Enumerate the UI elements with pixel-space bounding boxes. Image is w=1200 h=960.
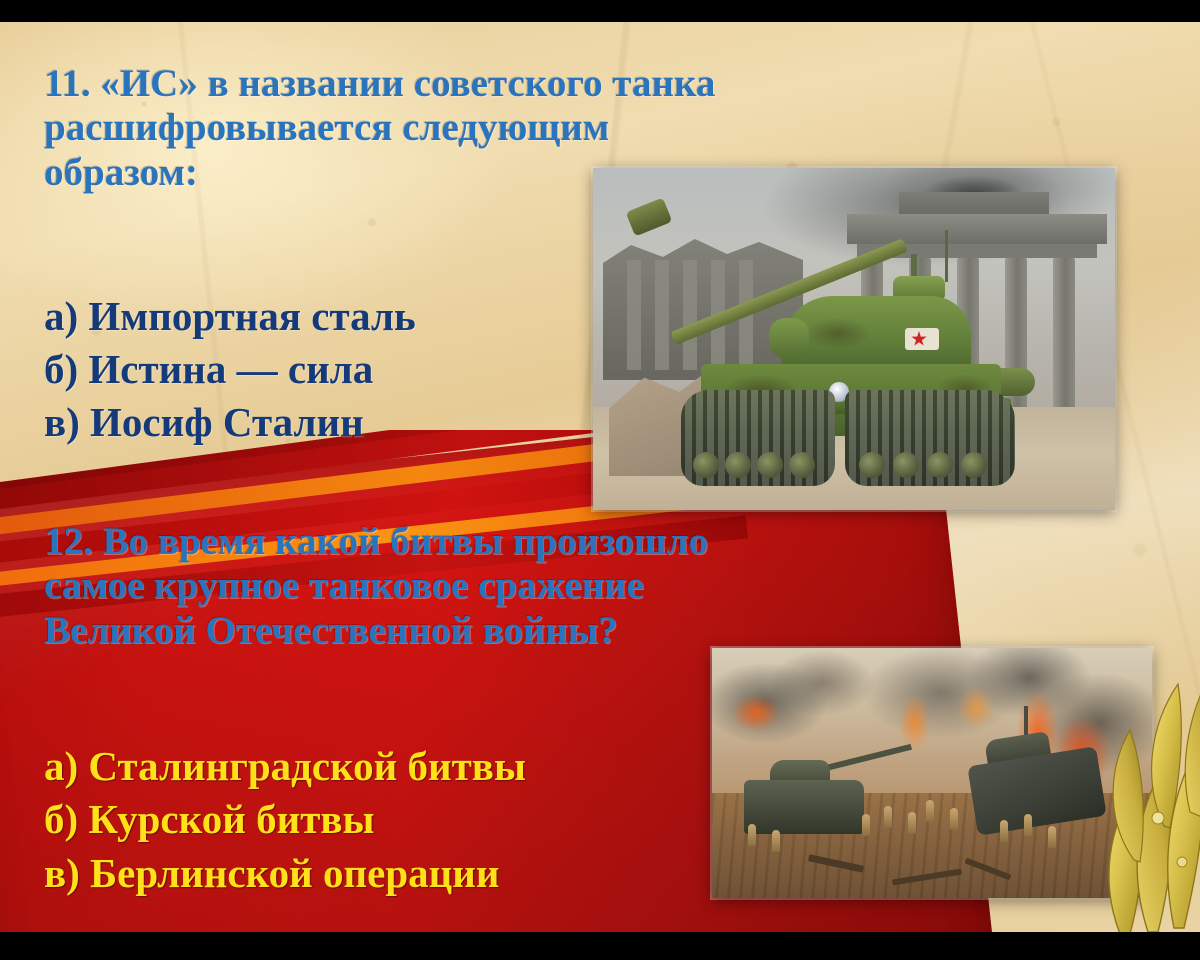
question-12-text: 12. Во время какой битвы произошло самое… <box>44 520 1004 653</box>
battle-tank-left <box>744 780 864 834</box>
gate-attic <box>899 192 1049 216</box>
battle-soldier <box>772 830 780 852</box>
battle-soldier <box>926 800 934 822</box>
gate-entablature <box>847 214 1107 244</box>
road-wheel <box>859 452 885 478</box>
question-11-answer-v[interactable]: в) Иосиф Сталин <box>44 396 604 449</box>
road-wheel <box>789 452 815 478</box>
gate-column <box>1053 258 1075 408</box>
battle-soldier <box>862 814 870 836</box>
question-12-answer-a[interactable]: а) Сталинградской битвы <box>44 740 744 793</box>
tank-track-left <box>681 390 835 486</box>
battle-soldier <box>908 812 916 834</box>
road-wheel <box>961 452 987 478</box>
question-12-answer-b[interactable]: б) Курской битвы <box>44 793 744 846</box>
question-12-line-3: Великой Отечественной войны? <box>44 609 1004 653</box>
battle-soldier <box>748 824 756 846</box>
question-12-answer-v[interactable]: в) Берлинской операции <box>44 847 744 900</box>
red-star-marking <box>905 328 939 350</box>
question-11-answer-b[interactable]: б) Истина — сила <box>44 343 604 396</box>
battle-soldier <box>1000 820 1008 842</box>
road-wheel <box>725 452 751 478</box>
ruin-column <box>683 260 697 370</box>
quiz-slide: 432 <box>0 0 1200 960</box>
question-11-answer-a[interactable]: а) Импортная сталь <box>44 290 604 343</box>
tank-track-right <box>845 390 1015 486</box>
letterbox-top <box>0 0 1200 22</box>
question-11-line-2: расшифровывается следующим <box>44 106 974 150</box>
question-11-answers: а) Импортная сталь б) Истина — сила в) И… <box>44 290 604 449</box>
laurel-leaves <box>1109 668 1200 934</box>
question-12-line-1: 12. Во время какой битвы произошло <box>44 520 1004 564</box>
road-wheel <box>693 452 719 478</box>
tank-photo: 432 <box>593 168 1115 510</box>
tank-aa-machine-gun <box>911 254 917 278</box>
tank-gun-mantlet <box>769 318 809 358</box>
battle-soldier <box>1048 826 1056 848</box>
battle-soldier <box>884 806 892 828</box>
question-12-answers: а) Сталинградской битвы б) Курской битвы… <box>44 740 744 900</box>
ruin-column <box>655 260 669 370</box>
road-wheel <box>757 452 783 478</box>
ruin-column <box>627 260 641 370</box>
question-12-line-2: самое крупное танковое сражение <box>44 564 1004 608</box>
battle-soldier <box>950 808 958 830</box>
question-11-line-3: образом: <box>44 151 974 195</box>
battle-soldier <box>1024 814 1032 836</box>
road-wheel <box>927 452 953 478</box>
tank-antenna <box>945 230 948 282</box>
question-11-line-1: 11. «ИС» в названии советского танка <box>44 62 974 106</box>
question-11-text: 11. «ИС» в названии советского танка рас… <box>44 62 974 195</box>
road-wheel <box>893 452 919 478</box>
tank-turret-camo <box>781 296 971 374</box>
golden-laurel-decoration <box>1086 612 1200 942</box>
letterbox-bottom <box>0 932 1200 960</box>
